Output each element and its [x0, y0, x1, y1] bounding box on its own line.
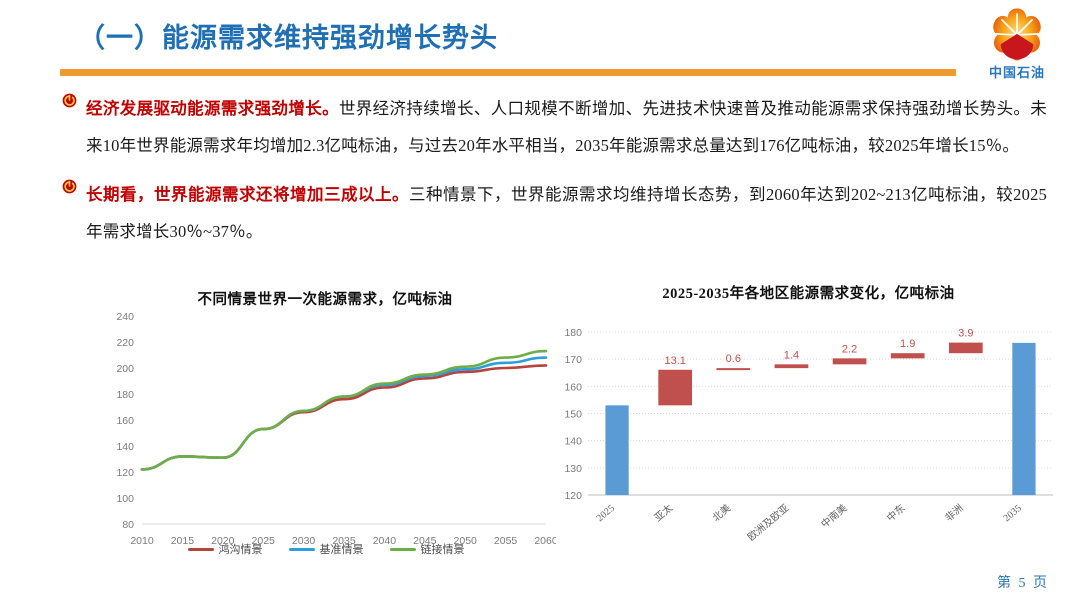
- legend-swatch: [188, 548, 214, 551]
- line-chart-title: 不同情景世界一次能源需求，亿吨标油: [110, 288, 540, 309]
- legend-label: 基准情景: [320, 541, 364, 557]
- svg-text:2.2: 2.2: [842, 343, 857, 355]
- paragraph-2: 长期看，世界能源需求还将增加三成以上。三种情景下，世界能源需求均维持增长态势，到…: [62, 176, 1047, 250]
- waterfall-chart-title: 2025-2035年各地区能源需求变化，亿吨标油: [556, 282, 1061, 303]
- svg-text:0.6: 0.6: [726, 353, 741, 365]
- svg-text:160: 160: [116, 415, 134, 427]
- legend-item-0: 鸿沟情景: [188, 541, 263, 557]
- svg-text:120: 120: [564, 490, 582, 502]
- svg-text:140: 140: [116, 441, 134, 453]
- legend-item-1: 基准情景: [289, 541, 364, 557]
- svg-text:亚太: 亚太: [651, 501, 675, 524]
- power-bullet-icon: [62, 179, 77, 194]
- svg-text:130: 130: [564, 463, 582, 475]
- svg-text:180: 180: [564, 327, 582, 339]
- svg-text:中东: 中东: [884, 501, 908, 524]
- legend-swatch: [289, 548, 315, 551]
- slide-root: （一）能源需求维持强劲增长势头: [0, 0, 1067, 600]
- waterfall-chart-plot: 120130140150160170180202513.1亚太0.6北美1.4欧…: [556, 302, 1061, 557]
- svg-text:100: 100: [116, 493, 134, 505]
- svg-text:中南美: 中南美: [818, 501, 849, 530]
- svg-text:200: 200: [116, 363, 134, 375]
- legend-swatch: [390, 548, 416, 551]
- svg-text:120: 120: [116, 467, 134, 479]
- petrochina-logo: 中国石油: [975, 6, 1059, 86]
- power-bullet-icon: [62, 93, 77, 108]
- svg-text:240: 240: [116, 311, 134, 323]
- petrochina-logo-text: 中国石油: [975, 62, 1059, 81]
- charts-row: 不同情景世界一次能源需求，亿吨标油 8010012014016018020022…: [0, 278, 1067, 568]
- title-underline-rule: [60, 69, 956, 76]
- paragraph-1-text: 经济发展驱动能源需求强劲增长。世界经济持续增长、人口规模不断增加、先进技术快速普…: [86, 90, 1047, 164]
- svg-text:北美: 北美: [710, 501, 734, 524]
- svg-text:160: 160: [564, 381, 582, 393]
- line-chart: 不同情景世界一次能源需求，亿吨标油 8010012014016018020022…: [96, 278, 556, 568]
- waterfall-chart: 2025-2035年各地区能源需求变化，亿吨标油 120130140150160…: [556, 278, 1061, 568]
- page-number: 第 5 页: [997, 572, 1049, 592]
- svg-text:欧洲及欧亚: 欧洲及欧亚: [745, 502, 791, 543]
- body-text-block: 经济发展驱动能源需求强劲增长。世界经济持续增长、人口规模不断增加、先进技术快速普…: [62, 90, 1047, 262]
- line-chart-plot: 8010012014016018020022024020102015202020…: [96, 310, 556, 560]
- svg-text:220: 220: [116, 337, 134, 349]
- svg-text:80: 80: [122, 519, 134, 531]
- svg-text:非洲: 非洲: [943, 502, 966, 524]
- paragraph-1-highlight: 经济发展驱动能源需求强劲增长。: [86, 99, 339, 118]
- paragraph-1: 经济发展驱动能源需求强劲增长。世界经济持续增长、人口规模不断增加、先进技术快速普…: [62, 90, 1047, 164]
- svg-text:2035: 2035: [1001, 503, 1023, 524]
- svg-text:2025: 2025: [595, 503, 617, 524]
- line-chart-legend: 鸿沟情景 基准情景 链接情景: [96, 536, 556, 562]
- petrochina-logo-icon: [988, 6, 1046, 64]
- svg-text:3.9: 3.9: [958, 328, 973, 340]
- paragraph-2-text: 长期看，世界能源需求还将增加三成以上。三种情景下，世界能源需求均维持增长态势，到…: [86, 176, 1047, 250]
- svg-text:140: 140: [564, 436, 582, 448]
- legend-label: 鸿沟情景: [219, 541, 263, 557]
- svg-text:170: 170: [564, 354, 582, 366]
- svg-text:150: 150: [564, 409, 582, 421]
- legend-item-2: 链接情景: [390, 541, 465, 557]
- svg-text:180: 180: [116, 389, 134, 401]
- svg-text:1.9: 1.9: [900, 338, 915, 350]
- page-title: （一）能源需求维持强劲增长势头: [78, 16, 498, 55]
- legend-label: 链接情景: [421, 541, 465, 557]
- svg-text:13.1: 13.1: [664, 355, 685, 367]
- svg-text:1.4: 1.4: [784, 349, 799, 361]
- slide-header: （一）能源需求维持强劲增长势头: [0, 0, 1067, 82]
- paragraph-2-highlight: 长期看，世界能源需求还将增加三成以上。: [86, 185, 409, 204]
